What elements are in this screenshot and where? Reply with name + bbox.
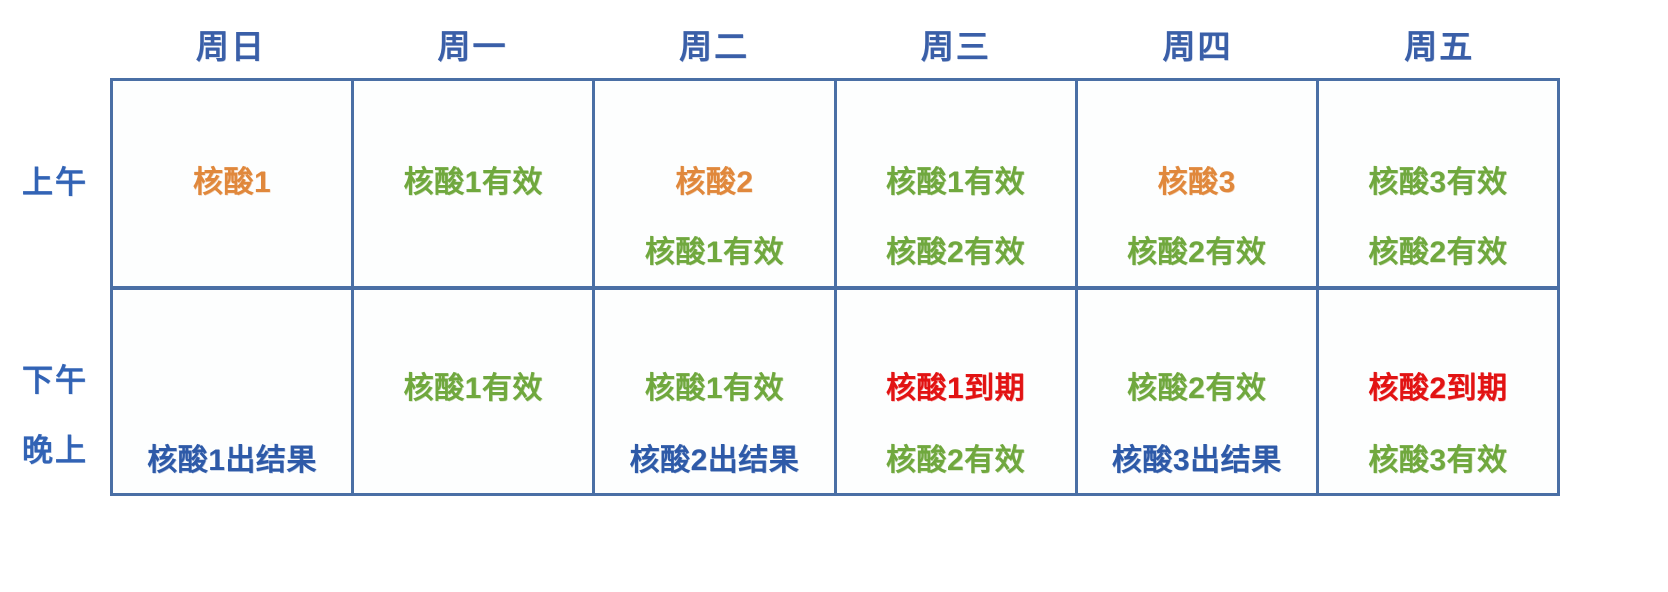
- schedule-cell[interactable]: 核酸3核酸2有效: [1078, 81, 1319, 286]
- cell-text-green: 核酸1有效: [595, 363, 833, 407]
- cell-text-green: 核酸2有效: [1078, 363, 1316, 407]
- grid-row-morning: 核酸1核酸1有效核酸2核酸1有效核酸1有效核酸2有效核酸3核酸2有效核酸3有效核…: [113, 81, 1557, 286]
- schedule-cell[interactable]: 核酸2有效核酸3出结果: [1078, 290, 1319, 493]
- schedule-grid: 核酸1核酸1有效核酸2核酸1有效核酸1有效核酸2有效核酸3核酸2有效核酸3有效核…: [110, 78, 1560, 496]
- grid-row-evening: 核酸1出结果核酸1有效核酸1有效核酸2出结果核酸1到期核酸2有效核酸2有效核酸3…: [113, 286, 1557, 493]
- cell-text-green: 核酸3有效: [1319, 157, 1557, 201]
- cell-text-blue: 核酸1出结果: [113, 435, 351, 479]
- schedule-cell[interactable]: 核酸1: [113, 81, 354, 286]
- cell-text-green: 核酸1有效: [595, 227, 833, 271]
- schedule-cell[interactable]: 核酸1有效: [354, 290, 595, 493]
- day-header-friday: 周五: [1318, 16, 1560, 72]
- cell-text-orange: 核酸1: [113, 157, 351, 201]
- schedule-cell[interactable]: 核酸2到期核酸3有效: [1319, 290, 1557, 493]
- cell-text-orange: 核酸3: [1078, 157, 1316, 201]
- schedule-cell[interactable]: 核酸2核酸1有效: [595, 81, 836, 286]
- day-header-sunday: 周日: [110, 16, 352, 72]
- row-label-morning: 上午: [0, 157, 110, 202]
- schedule-cell[interactable]: 核酸1有效核酸2出结果: [595, 290, 836, 493]
- cell-text-blue: 核酸2出结果: [595, 435, 833, 479]
- day-header-tuesday: 周二: [593, 16, 835, 72]
- cell-text-green: 核酸2有效: [1319, 227, 1557, 271]
- cell-text-green: 核酸2有效: [837, 435, 1075, 479]
- cell-text-green: 核酸2有效: [1078, 227, 1316, 271]
- cell-text-green: 核酸1有效: [354, 363, 592, 407]
- row-label-afternoon: 下午: [0, 355, 110, 400]
- schedule-cell[interactable]: 核酸1有效核酸2有效: [837, 81, 1078, 286]
- cell-text-red: 核酸2到期: [1319, 363, 1557, 407]
- cell-text-green: 核酸1有效: [837, 157, 1075, 201]
- row-label-evening: 晚上: [0, 425, 110, 470]
- day-header-row: 周日 周一 周二 周三 周四 周五: [110, 16, 1560, 72]
- cell-text-red: 核酸1到期: [837, 363, 1075, 407]
- schedule-cell[interactable]: 核酸1出结果: [113, 290, 354, 493]
- cell-text-orange: 核酸2: [595, 157, 833, 201]
- cell-text-blue: 核酸3出结果: [1078, 435, 1316, 479]
- cell-text-green: 核酸1有效: [354, 157, 592, 201]
- day-header-thursday: 周四: [1077, 16, 1319, 72]
- day-header-wednesday: 周三: [835, 16, 1077, 72]
- day-header-monday: 周一: [352, 16, 594, 72]
- schedule-cell[interactable]: 核酸1到期核酸2有效: [837, 290, 1078, 493]
- cell-text-green: 核酸3有效: [1319, 435, 1557, 479]
- schedule-cell[interactable]: 核酸3有效核酸2有效: [1319, 81, 1557, 286]
- nucleic-acid-schedule-page: 周日 周一 周二 周三 周四 周五 上午 下午 晚上 核酸1核酸1有效核酸2核酸…: [0, 0, 1668, 592]
- schedule-cell[interactable]: 核酸1有效: [354, 81, 595, 286]
- cell-text-green: 核酸2有效: [837, 227, 1075, 271]
